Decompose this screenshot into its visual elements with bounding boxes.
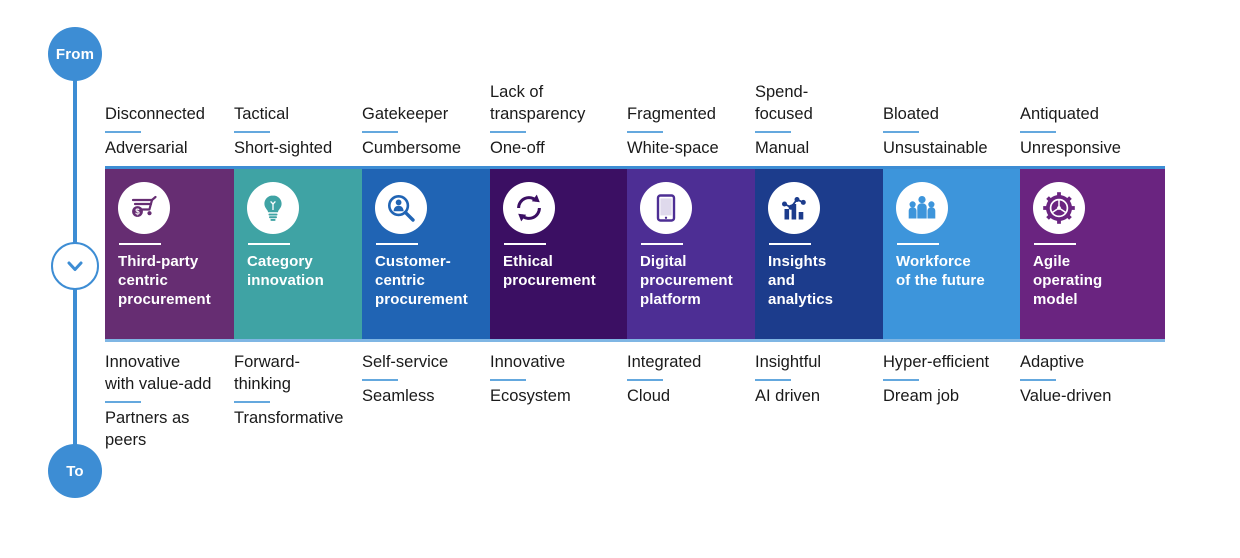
tile-title: Workforce of the future bbox=[896, 252, 1008, 290]
to-bottom-text: Transformative bbox=[234, 408, 354, 430]
to-bottom-text: Dream job bbox=[883, 386, 1012, 408]
to-bottom-text: Partners as peers bbox=[105, 408, 226, 452]
gear-spokes-icon bbox=[1033, 182, 1085, 234]
from-cell-insights-and-analytics: Spend- focused Manual bbox=[755, 82, 883, 160]
to-top-text: Innovative with value-add bbox=[105, 352, 226, 396]
magnifier-person-icon bbox=[375, 182, 427, 234]
tile-title: Ethical procurement bbox=[503, 252, 615, 290]
to-top-text: Innovative bbox=[490, 352, 619, 374]
three-people-icon bbox=[896, 182, 948, 234]
from-top-text: Antiquated bbox=[1020, 104, 1157, 126]
to-bottom-text: AI driven bbox=[755, 386, 875, 408]
pillar-band: $ Third-party centric procurement bbox=[105, 166, 1165, 342]
tile-title: Agile operating model bbox=[1033, 252, 1153, 310]
to-top-text: Adaptive bbox=[1020, 352, 1157, 374]
to-bottom-text: Value-driven bbox=[1020, 386, 1157, 408]
timeline-from-label: From bbox=[56, 46, 94, 63]
from-bottom-text: Short-sighted bbox=[234, 138, 354, 160]
tile-workforce-of-the-future[interactable]: Workforce of the future bbox=[883, 169, 1020, 339]
tile-ethical-procurement[interactable]: Ethical procurement bbox=[490, 169, 627, 339]
from-cell-customer-centric-procurement: Gatekeeper Cumbersome bbox=[362, 104, 490, 160]
shopping-cart-dollar-icon: $ bbox=[118, 182, 170, 234]
to-top-text: Forward- thinking bbox=[234, 352, 354, 396]
to-cell-ethical-procurement: Innovative Ecosystem bbox=[490, 352, 627, 408]
word-divider bbox=[362, 131, 398, 134]
word-divider bbox=[883, 131, 919, 134]
word-divider bbox=[105, 131, 141, 134]
tile-digital-procurement-platform[interactable]: Digital procurement platform bbox=[627, 169, 755, 339]
to-cell-agile-operating-model: Adaptive Value-driven bbox=[1020, 352, 1165, 408]
from-bottom-text: One-off bbox=[490, 138, 619, 160]
to-top-text: Hyper-efficient bbox=[883, 352, 1012, 374]
to-cell-insights-and-analytics: Insightful AI driven bbox=[755, 352, 883, 408]
word-divider bbox=[490, 379, 526, 382]
tile-divider bbox=[769, 243, 811, 245]
from-top-text: Spend- focused bbox=[755, 82, 875, 126]
tile-third-party-centric-procurement[interactable]: $ Third-party centric procurement bbox=[105, 169, 234, 339]
word-divider bbox=[755, 379, 791, 382]
circular-arrows-icon bbox=[503, 182, 555, 234]
tile-customer-centric-procurement[interactable]: Customer- centric procurement bbox=[362, 169, 490, 339]
to-bottom-text: Cloud bbox=[627, 386, 747, 408]
to-cell-third-party-centric-procurement: Innovative with value-add Partners as pe… bbox=[105, 352, 234, 452]
from-top-text: Disconnected bbox=[105, 104, 226, 126]
from-top-text: Bloated bbox=[883, 104, 1012, 126]
tile-title: Insights and analytics bbox=[768, 252, 871, 310]
word-divider bbox=[105, 401, 141, 404]
from-top-text: Tactical bbox=[234, 104, 354, 126]
word-divider bbox=[1020, 379, 1056, 382]
to-top-text: Integrated bbox=[627, 352, 747, 374]
from-state-row: Disconnected Adversarial Tactical Short-… bbox=[105, 62, 1165, 160]
tile-category-innovation[interactable]: Category innovation bbox=[234, 169, 362, 339]
tile-divider bbox=[119, 243, 161, 245]
word-divider bbox=[627, 131, 663, 134]
word-divider bbox=[627, 379, 663, 382]
tile-divider bbox=[1034, 243, 1076, 245]
from-bottom-text: Cumbersome bbox=[362, 138, 482, 160]
tile-title: Customer- centric procurement bbox=[375, 252, 478, 310]
from-top-text: Gatekeeper bbox=[362, 104, 482, 126]
from-top-text: Fragmented bbox=[627, 104, 747, 126]
word-divider bbox=[1020, 131, 1056, 134]
lightbulb-icon bbox=[247, 182, 299, 234]
tile-title: Third-party centric procurement bbox=[118, 252, 222, 310]
to-bottom-text: Seamless bbox=[362, 386, 482, 408]
tile-agile-operating-model[interactable]: Agile operating model bbox=[1020, 169, 1165, 339]
from-cell-digital-procurement-platform: Fragmented White-space bbox=[627, 104, 755, 160]
word-divider bbox=[755, 131, 791, 134]
word-divider bbox=[234, 131, 270, 134]
from-bottom-text: Unsustainable bbox=[883, 138, 1012, 160]
to-cell-workforce-of-the-future: Hyper-efficient Dream job bbox=[883, 352, 1020, 408]
to-top-text: Insightful bbox=[755, 352, 875, 374]
from-bottom-text: Manual bbox=[755, 138, 875, 160]
svg-text:$: $ bbox=[135, 208, 140, 217]
tile-divider bbox=[248, 243, 290, 245]
to-bottom-text: Ecosystem bbox=[490, 386, 619, 408]
from-bottom-text: White-space bbox=[627, 138, 747, 160]
from-top-text: Lack of transparency bbox=[490, 82, 619, 126]
to-top-text: Self-service bbox=[362, 352, 482, 374]
from-cell-third-party-centric-procurement: Disconnected Adversarial bbox=[105, 104, 234, 160]
tile-divider bbox=[641, 243, 683, 245]
timeline-mid-marker bbox=[51, 242, 99, 290]
to-cell-digital-procurement-platform: Integrated Cloud bbox=[627, 352, 755, 408]
tile-divider bbox=[504, 243, 546, 245]
timeline-to-label: To bbox=[66, 463, 84, 480]
timeline-to-marker: To bbox=[48, 444, 102, 498]
to-cell-customer-centric-procurement: Self-service Seamless bbox=[362, 352, 490, 408]
from-bottom-text: Adversarial bbox=[105, 138, 226, 160]
tile-title: Category innovation bbox=[247, 252, 350, 290]
word-divider bbox=[490, 131, 526, 134]
from-cell-agile-operating-model: Antiquated Unresponsive bbox=[1020, 104, 1165, 160]
from-cell-category-innovation: Tactical Short-sighted bbox=[234, 104, 362, 160]
bar-chart-trend-icon bbox=[768, 182, 820, 234]
tile-insights-and-analytics[interactable]: Insights and analytics bbox=[755, 169, 883, 339]
tablet-icon bbox=[640, 182, 692, 234]
from-bottom-text: Unresponsive bbox=[1020, 138, 1157, 160]
word-divider bbox=[362, 379, 398, 382]
tile-title: Digital procurement platform bbox=[640, 252, 743, 310]
to-state-row: Innovative with value-add Partners as pe… bbox=[105, 352, 1165, 452]
from-cell-workforce-of-the-future: Bloated Unsustainable bbox=[883, 104, 1020, 160]
infographic-canvas: From To Disconnected Adversarial Tactica… bbox=[0, 0, 1240, 558]
to-cell-category-innovation: Forward- thinking Transformative bbox=[234, 352, 362, 430]
timeline-from-marker: From bbox=[48, 27, 102, 81]
word-divider bbox=[234, 401, 270, 404]
chevron-down-icon bbox=[64, 255, 86, 277]
from-cell-ethical-procurement: Lack of transparency One-off bbox=[490, 82, 627, 160]
tile-divider bbox=[897, 243, 939, 245]
word-divider bbox=[883, 379, 919, 382]
tile-divider bbox=[376, 243, 418, 245]
